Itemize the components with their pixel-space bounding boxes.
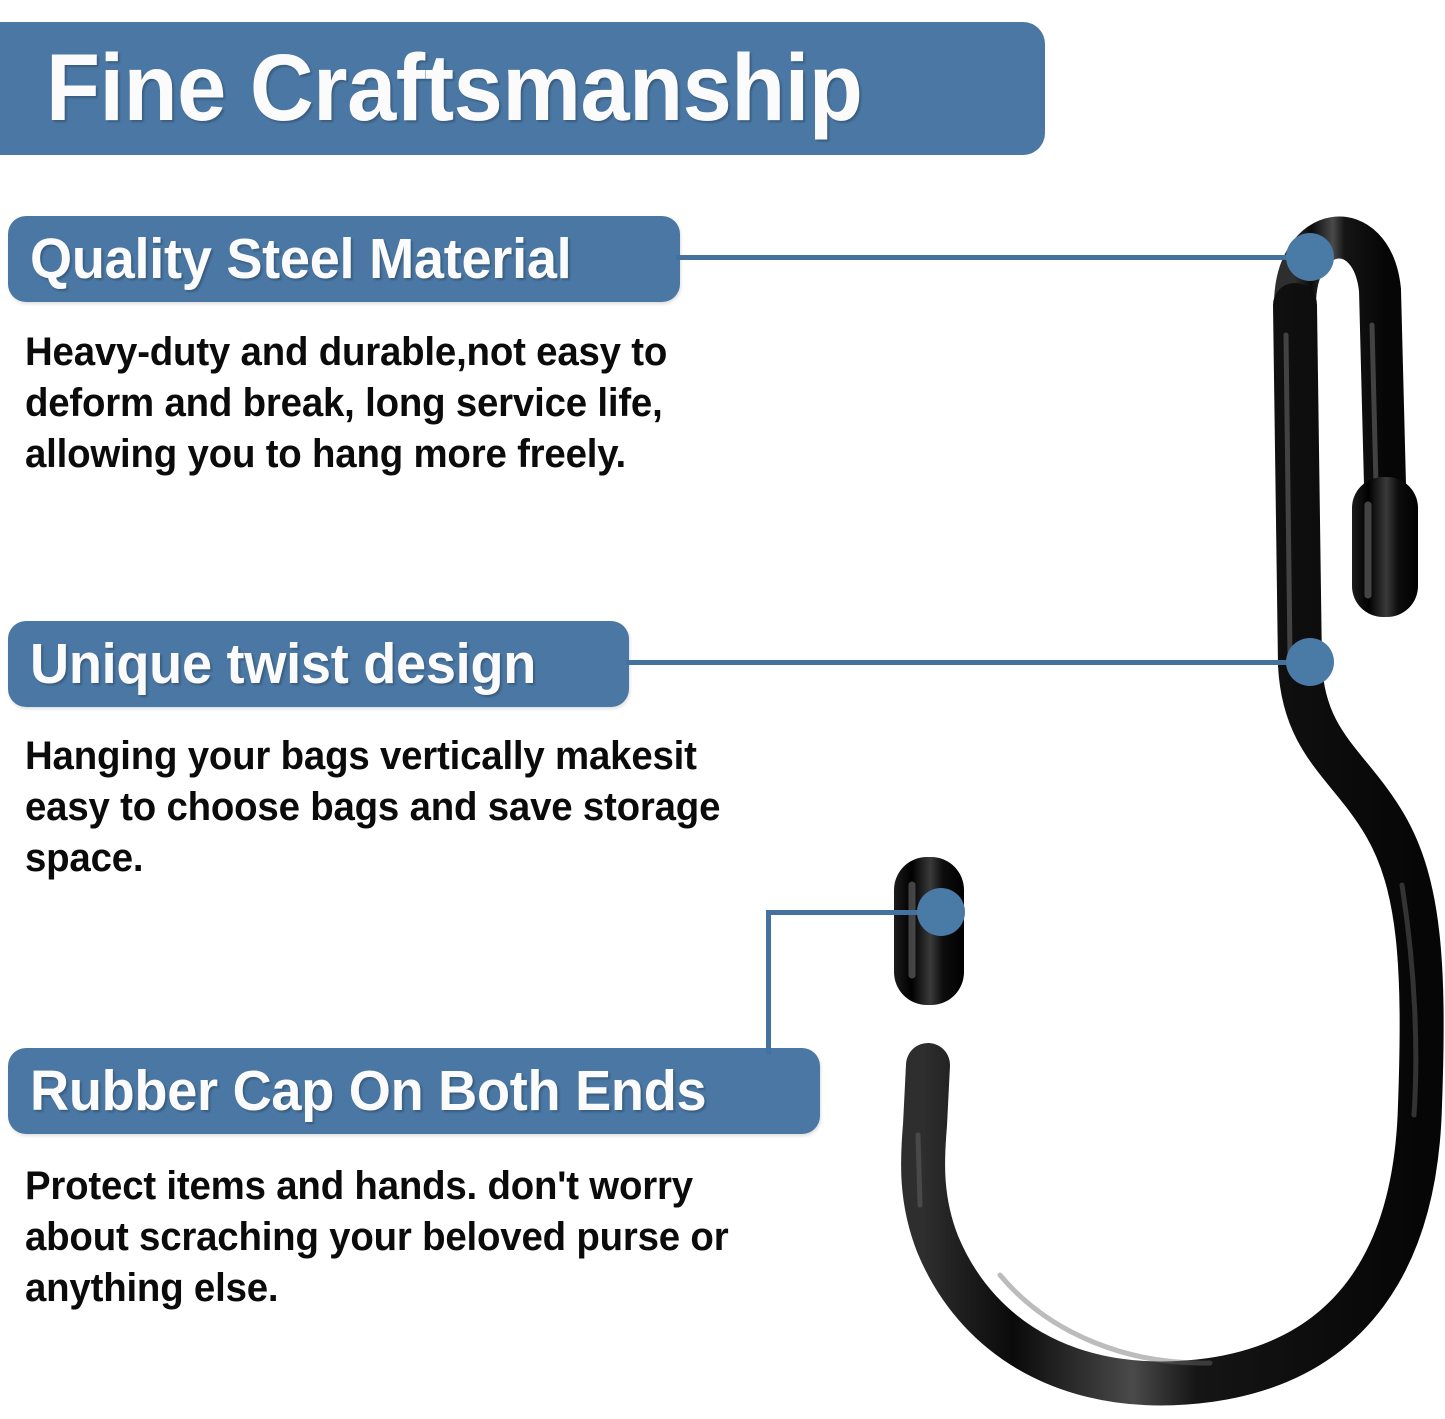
feature-description-unique-twist-design: Hanging your bags vertically makesit eas… [25, 731, 783, 884]
connector-dot-2 [1286, 638, 1334, 686]
hook-highlight-lower-arm [918, 1135, 920, 1205]
connector-line-2 [626, 660, 1318, 665]
feature-badge-label: Quality Steel Material [30, 231, 571, 288]
feature-badge-label: Rubber Cap On Both Ends [30, 1063, 706, 1120]
feature-badge-quality-steel-material[interactable]: Quality Steel Material [8, 216, 680, 302]
title-banner: Fine Craftsmanship [0, 22, 1045, 155]
connector-dot-1 [1286, 233, 1334, 281]
feature-badge-unique-twist-design[interactable]: Unique twist design [8, 621, 629, 707]
connector-dot-3 [917, 888, 965, 936]
feature-badge-label: Unique twist design [30, 636, 536, 693]
connector-line-3-vertical [766, 910, 771, 1055]
hook-main-body [923, 305, 1422, 1383]
feature-description-rubber-cap-on-both-ends: Protect items and hands. don't worry abo… [25, 1161, 783, 1314]
feature-badge-rubber-cap-on-both-ends[interactable]: Rubber Cap On Both Ends [8, 1048, 820, 1134]
product-infographic: Fine Craftsmanship [0, 0, 1445, 1419]
product-hook-image [880, 185, 1445, 1419]
rubber-cap-upper [1352, 477, 1418, 617]
page-title: Fine Craftsmanship [46, 41, 862, 136]
connector-line-1 [676, 255, 1314, 260]
feature-description-quality-steel-material: Heavy-duty and durable,not easy to defor… [25, 327, 783, 480]
